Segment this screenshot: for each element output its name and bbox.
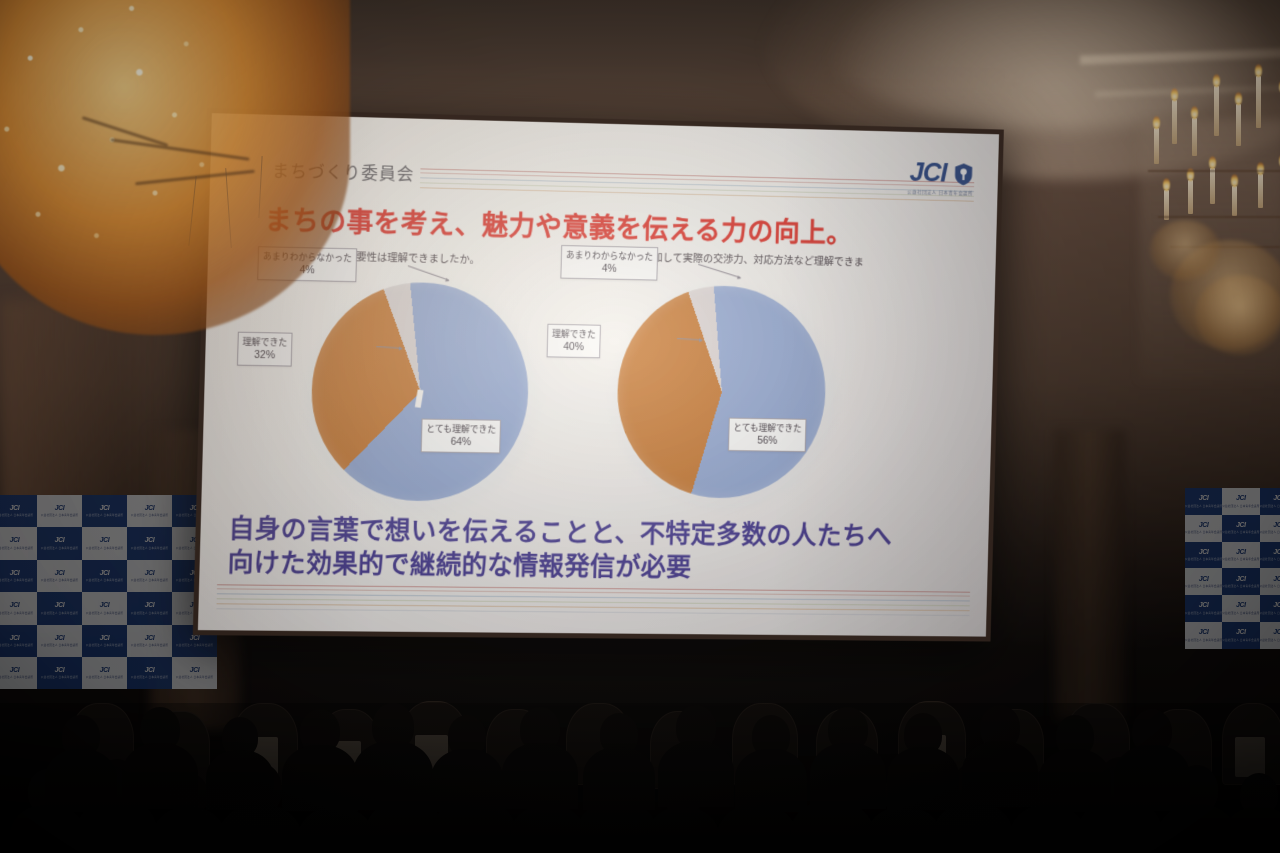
projection-screen: まちづくり委員会 JCI 公益社団法人 日本青年 (193, 108, 1004, 642)
banner-jci-wordmark: JCI (1236, 602, 1246, 609)
banner-jci-wordmark: JCI (1236, 495, 1246, 502)
banner-jci-subtitle: 公益社団法人 日本青年会議所 (0, 611, 33, 615)
banner-tile: JCI公益社団法人 日本青年会議所 (172, 657, 217, 689)
banner-jci-subtitle: 公益社団法人 日本青年会議所 (1185, 638, 1222, 642)
footer-rule-lines (216, 584, 970, 617)
banner-jci-subtitle: 公益社団法人 日本青年会議所 (131, 513, 168, 517)
banner-jci-subtitle: 公益社団法人 日本青年会議所 (131, 578, 168, 582)
banner-tile: JCI公益社団法人 日本青年会議所 (1185, 595, 1222, 622)
banner-tile: JCI公益社団法人 日本青年会議所 (82, 560, 127, 592)
banner-jci-subtitle: 公益社団法人 日本青年会議所 (131, 643, 168, 647)
banner-jci-wordmark: JCI (55, 635, 65, 642)
callout-percent: 56% (733, 433, 802, 448)
banner-tile: JCI公益社団法人 日本青年会議所 (1185, 515, 1222, 542)
callout-category: 理解できた (242, 337, 287, 348)
banner-tile: JCI公益社団法人 日本青年会議所 (1222, 622, 1259, 649)
pie-chart-right: あまりわからなかった4%理解できた40%とても理解できた56% (546, 270, 899, 521)
banner-jci-wordmark: JCI (145, 635, 155, 642)
banner-jci-wordmark: JCI (145, 505, 155, 512)
banner-jci-wordmark: JCI (1199, 549, 1209, 556)
callout-category: とても理解できた (733, 423, 802, 434)
banner-jci-wordmark: JCI (55, 667, 65, 674)
banner-tile: JCI公益社団法人 日本青年会議所 (127, 527, 172, 559)
banner-jci-subtitle: 公益社団法人 日本青年会議所 (1260, 504, 1280, 508)
banner-tile: JCI公益社団法人 日本青年会議所 (0, 625, 37, 657)
banner-tile: JCI公益社団法人 日本青年会議所 (37, 625, 82, 657)
banner-jci-wordmark: JCI (100, 635, 110, 642)
banner-tile: JCI公益社団法人 日本青年会議所 (0, 592, 37, 624)
banner-tile: JCI公益社団法人 日本青年会議所 (0, 495, 37, 527)
banner-tile: JCI公益社団法人 日本青年会議所 (1185, 622, 1222, 649)
callout-category: とても理解できた (426, 424, 496, 435)
banner-jci-subtitle: 公益社団法人 日本青年会議所 (1260, 638, 1280, 642)
banner-jci-subtitle: 公益社団法人 日本青年会議所 (0, 513, 33, 517)
banner-tile: JCI公益社団法人 日本青年会議所 (82, 625, 127, 657)
banner-tile: JCI公益社団法人 日本青年会議所 (1260, 622, 1280, 649)
banner-tile: JCI公益社団法人 日本青年会議所 (82, 657, 127, 689)
banner-tile: JCI公益社団法人 日本青年会議所 (0, 560, 37, 592)
banner-jci-subtitle: 公益社団法人 日本青年会議所 (86, 675, 123, 679)
jci-wordmark: JCI (909, 159, 947, 186)
slide-conclusion: 自身の言葉で想いを伝えることと、不特定多数の人たちへ 向けた効果的で継続的な情報… (227, 511, 966, 587)
banner-jci-subtitle: 公益社団法人 日本青年会議所 (86, 513, 123, 517)
pie-callout-label: あまりわからなかった4% (560, 245, 658, 281)
banner-jci-wordmark: JCI (1273, 602, 1280, 609)
banner-tile: JCI公益社団法人 日本青年会議所 (37, 495, 82, 527)
banner-jci-subtitle: 公益社団法人 日本青年会議所 (1222, 557, 1259, 561)
banner-jci-wordmark: JCI (145, 537, 155, 544)
banner-jci-wordmark: JCI (55, 505, 65, 512)
callout-percent: 4% (565, 261, 653, 277)
banner-jci-subtitle: 公益社団法人 日本青年会議所 (1260, 530, 1280, 534)
banner-tile: JCI公益社団法人 日本青年会議所 (1260, 542, 1280, 569)
banner-jci-subtitle: 公益社団法人 日本青年会議所 (0, 578, 33, 582)
banner-jci-wordmark: JCI (55, 602, 65, 609)
banner-jci-wordmark: JCI (10, 537, 20, 544)
banner-jci-wordmark: JCI (1236, 629, 1246, 636)
pie-callout-label: あまりわからなかった4% (257, 246, 357, 282)
conference-hall-scene: JCI公益社団法人 日本青年会議所JCI公益社団法人 日本青年会議所JCI公益社… (0, 0, 1280, 853)
jci-backdrop-banner-right: JCI公益社団法人 日本青年会議所JCI公益社団法人 日本青年会議所JCI公益社… (1185, 488, 1280, 649)
banner-jci-wordmark: JCI (1199, 522, 1209, 529)
banner-jci-wordmark: JCI (55, 537, 65, 544)
banner-tile: JCI公益社団法人 日本青年会議所 (1185, 488, 1222, 515)
banner-jci-subtitle: 公益社団法人 日本青年会議所 (131, 546, 168, 550)
banner-jci-wordmark: JCI (10, 570, 20, 577)
banner-jci-subtitle: 公益社団法人 日本青年会議所 (0, 546, 33, 550)
callout-percent: 64% (426, 435, 496, 450)
banner-jci-wordmark: JCI (190, 635, 200, 642)
banner-jci-wordmark: JCI (145, 570, 155, 577)
banner-jci-subtitle: 公益社団法人 日本青年会議所 (0, 675, 33, 679)
banner-jci-subtitle: 公益社団法人 日本青年会議所 (131, 675, 168, 679)
banner-jci-wordmark: JCI (100, 602, 110, 609)
banner-jci-wordmark: JCI (1273, 629, 1280, 636)
banner-jci-wordmark: JCI (1199, 602, 1209, 609)
callout-category: 理解できた (552, 329, 596, 340)
banner-tile: JCI公益社団法人 日本青年会議所 (1222, 595, 1259, 622)
banner-tile: JCI公益社団法人 日本青年会議所 (127, 560, 172, 592)
banner-jci-subtitle: 公益社団法人 日本青年会議所 (86, 578, 123, 582)
banner-jci-wordmark: JCI (145, 667, 155, 674)
header-rule-lines (420, 168, 974, 203)
banner-jci-wordmark: JCI (10, 602, 20, 609)
banner-tile: JCI公益社団法人 日本青年会議所 (1222, 488, 1259, 515)
banner-tile: JCI公益社団法人 日本青年会議所 (37, 592, 82, 624)
banner-jci-subtitle: 公益社団法人 日本青年会議所 (41, 546, 78, 550)
banner-jci-subtitle: 公益社団法人 日本青年会議所 (41, 643, 78, 647)
banner-tile: JCI公益社団法人 日本青年会議所 (82, 592, 127, 624)
banner-jci-wordmark: JCI (100, 570, 110, 577)
callout-category: あまりわからなかった (263, 251, 352, 263)
foreground-shadow (0, 703, 1280, 853)
callout-percent: 40% (552, 340, 596, 355)
banner-jci-subtitle: 公益社団法人 日本青年会議所 (41, 513, 78, 517)
banner-jci-wordmark: JCI (145, 602, 155, 609)
banner-jci-wordmark: JCI (1199, 629, 1209, 636)
banner-jci-subtitle: 公益社団法人 日本青年会議所 (86, 643, 123, 647)
banner-jci-subtitle: 公益社団法人 日本青年会議所 (1222, 638, 1259, 642)
banner-tile: JCI公益社団法人 日本青年会議所 (1185, 542, 1222, 569)
banner-jci-subtitle: 公益社団法人 日本青年会議所 (41, 675, 78, 679)
pie-callout-label: 理解できた32% (237, 332, 293, 367)
banner-jci-subtitle: 公益社団法人 日本青年会議所 (1222, 584, 1259, 588)
banner-tile: JCI公益社団法人 日本青年会議所 (1222, 542, 1259, 569)
banner-jci-subtitle: 公益社団法人 日本青年会議所 (41, 611, 78, 615)
screen-surface: まちづくり委員会 JCI 公益社団法人 日本青年 (198, 113, 999, 636)
banner-jci-subtitle: 公益社団法人 日本青年会議所 (1260, 611, 1280, 615)
banner-jci-subtitle: 公益社団法人 日本青年会議所 (1185, 584, 1222, 588)
pie-callout-label: 理解できた40% (547, 324, 601, 359)
banner-jci-wordmark: JCI (1273, 522, 1280, 529)
banner-jci-subtitle: 公益社団法人 日本青年会議所 (41, 578, 78, 582)
banner-jci-subtitle: 公益社団法人 日本青年会議所 (1222, 530, 1259, 534)
banner-tile: JCI公益社団法人 日本青年会議所 (1260, 595, 1280, 622)
wall-panel-right (1140, 120, 1280, 380)
callout-category: あまりわからなかった (566, 250, 654, 262)
banner-jci-subtitle: 公益社団法人 日本青年会議所 (1222, 611, 1259, 615)
banner-jci-wordmark: JCI (1199, 576, 1209, 583)
banner-jci-subtitle: 公益社団法人 日本青年会議所 (1185, 557, 1222, 561)
banner-jci-wordmark: JCI (1236, 522, 1246, 529)
banner-jci-wordmark: JCI (55, 570, 65, 577)
banner-jci-subtitle: 公益社団法人 日本青年会議所 (1260, 584, 1280, 588)
banner-tile: JCI公益社団法人 日本青年会議所 (0, 527, 37, 559)
slide-header-title: まちづくり委員会 (272, 157, 415, 185)
jci-backdrop-banner-left: JCI公益社団法人 日本青年会議所JCI公益社団法人 日本青年会議所JCI公益社… (0, 495, 217, 689)
banner-jci-subtitle: 公益社団法人 日本青年会議所 (86, 611, 123, 615)
banner-tile: JCI公益社団法人 日本青年会議所 (127, 625, 172, 657)
banner-jci-subtitle: 公益社団法人 日本青年会議所 (1222, 504, 1259, 508)
banner-tile: JCI公益社団法人 日本青年会議所 (37, 560, 82, 592)
banner-jci-wordmark: JCI (10, 635, 20, 642)
banner-jci-wordmark: JCI (100, 537, 110, 544)
banner-jci-wordmark: JCI (1273, 549, 1280, 556)
banner-jci-subtitle: 公益社団法人 日本青年会議所 (86, 546, 123, 550)
banner-jci-subtitle: 公益社団法人 日本青年会議所 (176, 643, 213, 647)
banner-jci-subtitle: 公益社団法人 日本青年会議所 (1260, 557, 1280, 561)
banner-jci-subtitle: 公益社団法人 日本青年会議所 (131, 611, 168, 615)
banner-tile: JCI公益社団法人 日本青年会議所 (1260, 515, 1280, 542)
banner-jci-subtitle: 公益社団法人 日本青年会議所 (176, 675, 213, 679)
jci-logo: JCI 公益社団法人 日本青年会議所 (907, 159, 974, 197)
banner-jci-wordmark: JCI (100, 667, 110, 674)
banner-jci-wordmark: JCI (1236, 549, 1246, 556)
banner-jci-wordmark: JCI (10, 667, 20, 674)
banner-tile: JCI公益社団法人 日本青年会議所 (0, 657, 37, 689)
banner-jci-wordmark: JCI (100, 505, 110, 512)
banner-tile: JCI公益社団法人 日本青年会議所 (127, 592, 172, 624)
banner-jci-subtitle: 公益社団法人 日本青年会議所 (0, 643, 33, 647)
banner-tile: JCI公益社団法人 日本青年会議所 (1185, 568, 1222, 595)
banner-tile: JCI公益社団法人 日本青年会議所 (37, 527, 82, 559)
banner-jci-wordmark: JCI (10, 505, 20, 512)
hall-pillar-right (1055, 430, 1125, 720)
banner-tile: JCI公益社団法人 日本青年会議所 (82, 527, 127, 559)
callout-percent: 32% (242, 348, 287, 363)
banner-tile: JCI公益社団法人 日本青年会議所 (37, 657, 82, 689)
banner-tile: JCI公益社団法人 日本青年会議所 (1260, 568, 1280, 595)
banner-tile: JCI公益社団法人 日本青年会議所 (82, 495, 127, 527)
banner-jci-subtitle: 公益社団法人 日本青年会議所 (1185, 611, 1222, 615)
banner-jci-wordmark: JCI (1273, 576, 1280, 583)
pie-callout-label: とても理解できた56% (728, 418, 807, 453)
banner-tile: JCI公益社団法人 日本青年会議所 (1222, 515, 1259, 542)
banner-jci-subtitle: 公益社団法人 日本青年会議所 (1185, 530, 1222, 534)
pie-callout-label: とても理解できた64% (421, 419, 502, 454)
banner-tile: JCI公益社団法人 日本青年会議所 (1222, 568, 1259, 595)
banner-tile: JCI公益社団法人 日本青年会議所 (1260, 488, 1280, 515)
callout-percent: 4% (262, 262, 352, 278)
banner-tile: JCI公益社団法人 日本青年会議所 (127, 495, 172, 527)
presentation-slide: まちづくり委員会 JCI 公益社団法人 日本青年 (198, 113, 999, 636)
banner-tile: JCI公益社団法人 日本青年会議所 (127, 657, 172, 689)
banner-jci-wordmark: JCI (1273, 495, 1280, 502)
banner-jci-wordmark: JCI (190, 667, 200, 674)
banner-jci-subtitle: 公益社団法人 日本青年会議所 (1185, 504, 1222, 508)
jci-shield-icon (953, 162, 973, 186)
banner-jci-wordmark: JCI (1199, 495, 1209, 502)
banner-jci-wordmark: JCI (1236, 576, 1246, 583)
